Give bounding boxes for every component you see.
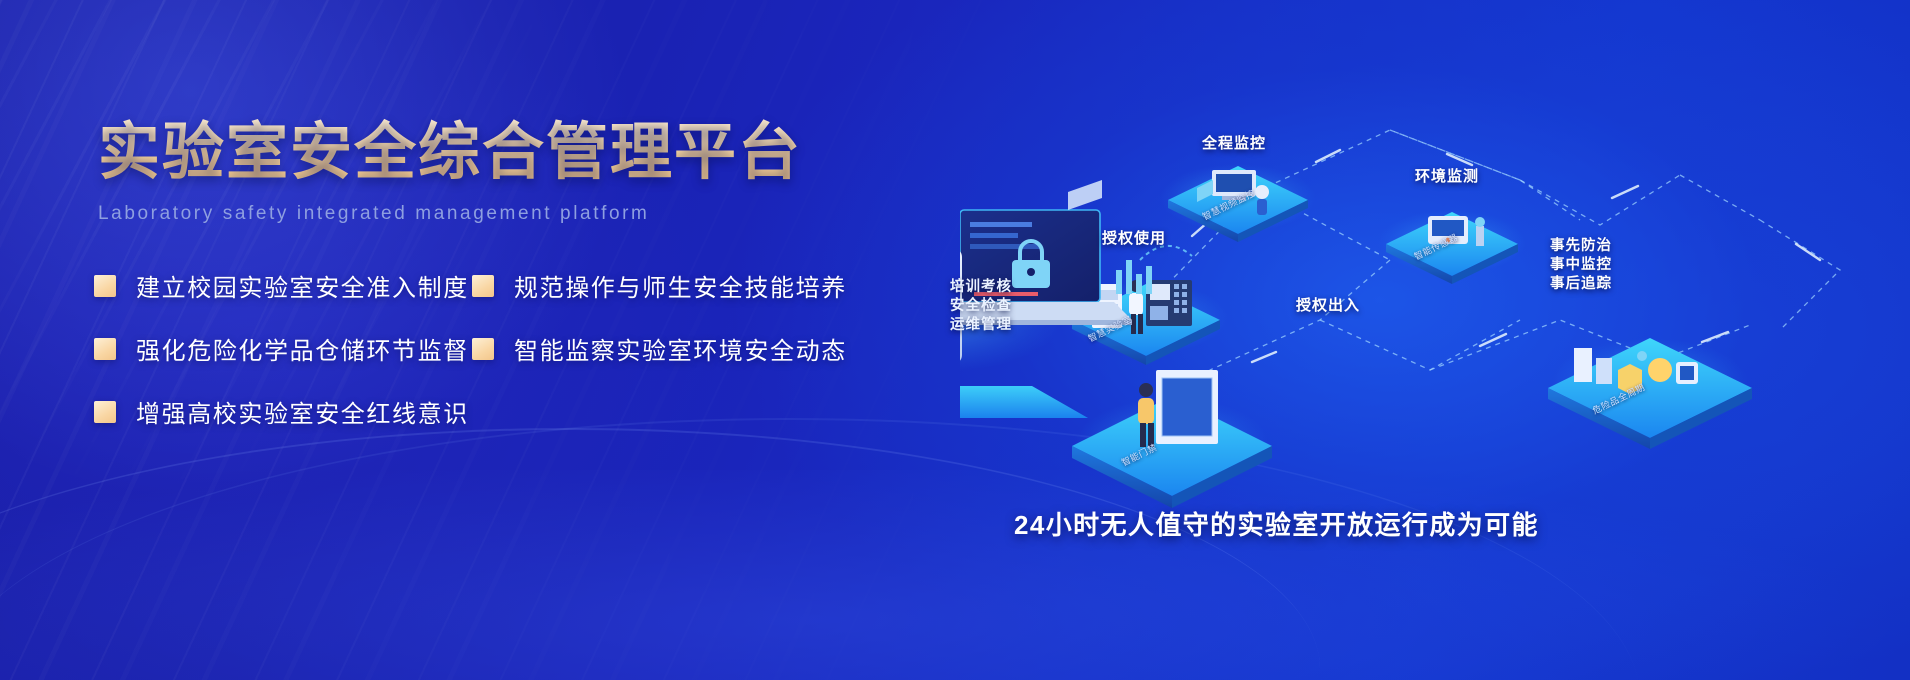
isometric-diagram: 全程监控 环境监测 授权使用 授权出入 事先防治 事中监控 事后追踪 培训考核 … (960, 70, 1910, 630)
node-label-authorized-access: 授权出入 (1296, 294, 1360, 315)
node-label-environment-monitor: 环境监测 (1415, 165, 1479, 186)
hero-copy: 实验室安全综合管理平台 Laboratory safety integrated… (98, 118, 918, 225)
page-title: 实验室安全综合管理平台 (98, 118, 918, 187)
node-environment-monitor[interactable] (1378, 210, 1526, 284)
list-item: 建立校园实验室安全准入制度 规范操作与师生安全技能培养 (94, 268, 954, 303)
feature-label: 智能监察实验室环境安全动态 (514, 331, 847, 366)
diagram-svg (960, 70, 1910, 630)
node-label-full-monitoring: 全程监控 (1202, 132, 1266, 153)
list-item: 增强高校实验室安全红线意识 (94, 394, 954, 429)
feature-list: 建立校园实验室安全准入制度 规范操作与师生安全技能培养 强化危险化学品仓储环节监… (94, 268, 954, 457)
workstation-line-2: 安全检查 (950, 297, 1012, 316)
bullet-square-icon (94, 275, 116, 297)
bullet-square-icon (94, 401, 116, 423)
person-figure (1138, 383, 1154, 447)
bullet-square-icon (94, 338, 116, 360)
page-subtitle: Laboratory safety integrated management … (98, 203, 918, 225)
feature-item-5: 智能监察实验室环境安全动态 (472, 331, 847, 366)
workstation-label: 培训考核 安全检查 运维管理 (950, 278, 1012, 335)
hazard-line-1: 事先防治 (1550, 237, 1612, 256)
hazard-line-3: 事后追踪 (1550, 275, 1612, 294)
feature-label: 强化危险化学品仓储环节监督 (136, 331, 469, 366)
feature-label: 规范操作与师生安全技能培养 (514, 268, 847, 303)
feature-item-1: 建立校园实验室安全准入制度 (94, 268, 472, 303)
hero-caption: 24小时无人值守的实验室开放运行成为可能 (1014, 505, 1539, 542)
node-label-hazard-chain: 事先防治 事中监控 事后追踪 (1550, 237, 1612, 294)
feature-label: 建立校园实验室安全准入制度 (136, 268, 469, 303)
node-hazard-chain[interactable] (1548, 338, 1752, 449)
workstation-line-3: 运维管理 (950, 316, 1012, 335)
list-item: 强化危险化学品仓储环节监督 智能监察实验室环境安全动态 (94, 331, 954, 366)
feature-item-2: 强化危险化学品仓储环节监督 (94, 331, 472, 366)
feature-label: 增强高校实验室安全红线意识 (136, 394, 469, 429)
node-label-authorized-use: 授权使用 (1102, 227, 1166, 248)
feature-item-4: 规范操作与师生安全技能培养 (472, 268, 847, 303)
feature-item-3: 增强高校实验室安全红线意识 (94, 394, 472, 429)
workstation-line-1: 培训考核 (950, 278, 1012, 297)
node-authorized-access[interactable] (1072, 370, 1272, 508)
bullet-square-icon (472, 338, 494, 360)
hero-banner: 实验室安全综合管理平台 Laboratory safety integrated… (0, 0, 1910, 680)
hazard-line-2: 事中监控 (1550, 256, 1612, 275)
bullet-square-icon (472, 275, 494, 297)
